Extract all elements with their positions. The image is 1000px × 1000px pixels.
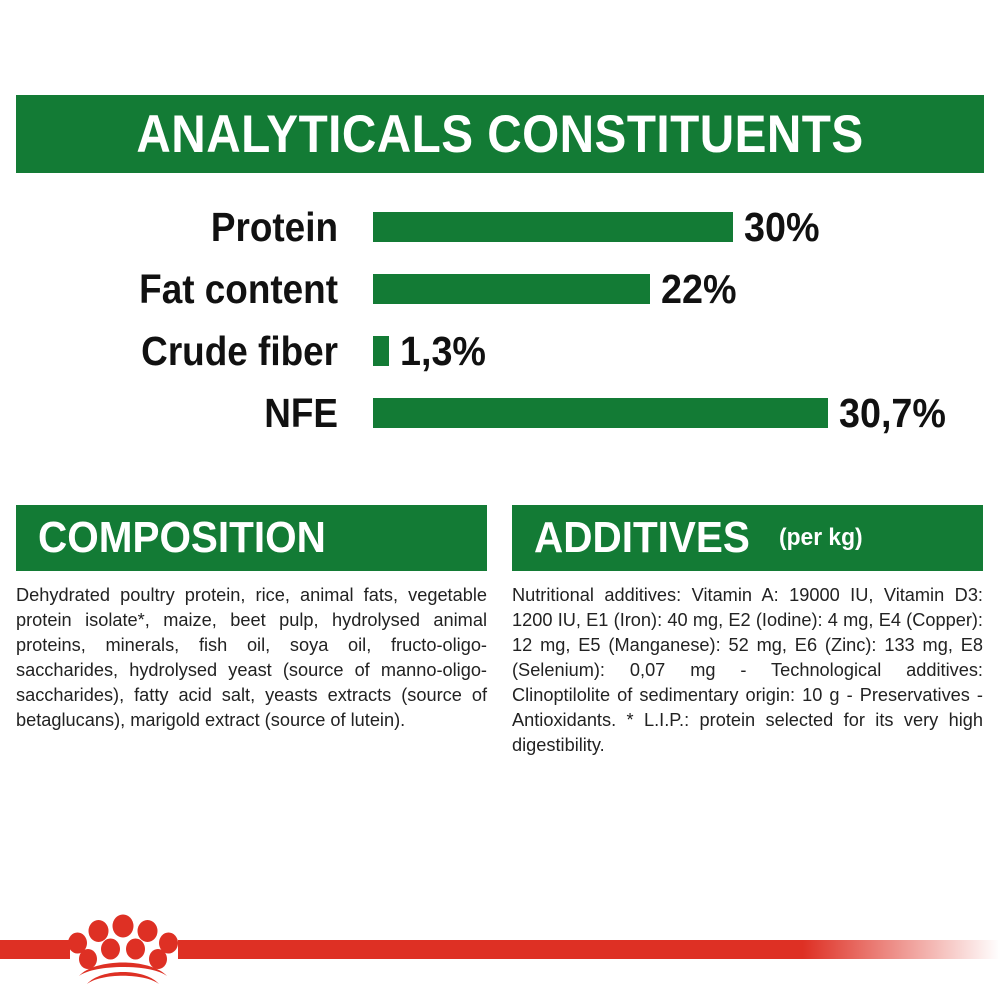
bar-crude-fiber [373, 336, 389, 366]
footer-rule-right [178, 940, 1000, 959]
additives-banner: ADDITIVES (per kg) [512, 505, 983, 571]
composition-panel: COMPOSITION Dehydrated poultry protein, … [16, 505, 487, 758]
chart-row-protein: Protein 30% [0, 196, 1000, 258]
chart-row-crude-fiber: Crude fiber 1,3% [0, 320, 1000, 382]
bar-area-crude-fiber: 1,3% [338, 320, 1000, 382]
bar-value-fat-content: 22% [661, 269, 736, 310]
additives-per-kg-label: (per kg) [779, 526, 863, 550]
bar-label-fat-content: Fat content [34, 269, 338, 310]
bar-fat-content [373, 274, 650, 304]
bar-area-fat-content: 22% [338, 258, 1000, 320]
bar-area-nfe: 30,7% [338, 382, 1000, 444]
bar-protein [373, 212, 733, 242]
bar-value-nfe: 30,7% [839, 393, 946, 434]
bar-area-protein: 30% [338, 196, 1000, 258]
analytical-constituents-chart: Protein 30% Fat content 22% Crude fiber … [0, 196, 1000, 444]
royal-canin-crown-icon [63, 914, 183, 986]
bar-label-nfe: NFE [34, 393, 338, 434]
additives-title: ADDITIVES [534, 516, 750, 560]
additives-text: Nutritional additives: Vitamin A: 19000 … [512, 583, 983, 758]
info-panels: COMPOSITION Dehydrated poultry protein, … [16, 505, 984, 758]
footer-rule-left [0, 940, 70, 959]
chart-row-nfe: NFE 30,7% [0, 382, 1000, 444]
bar-value-protein: 30% [744, 207, 819, 248]
footer [0, 938, 1000, 1000]
chart-row-fat-content: Fat content 22% [0, 258, 1000, 320]
bar-label-protein: Protein [34, 207, 338, 248]
page-title: ANALYTICALS CONSTITUENTS [136, 104, 863, 165]
bar-nfe [373, 398, 828, 428]
composition-text: Dehydrated poultry protein, rice, animal… [16, 583, 487, 733]
analyticals-constituents-banner: ANALYTICALS CONSTITUENTS [16, 95, 984, 173]
composition-banner: COMPOSITION [16, 505, 487, 571]
bar-value-crude-fiber: 1,3% [400, 331, 486, 372]
composition-title: COMPOSITION [38, 516, 326, 560]
additives-panel: ADDITIVES (per kg) Nutritional additives… [512, 505, 983, 758]
bar-label-crude-fiber: Crude fiber [34, 331, 338, 372]
